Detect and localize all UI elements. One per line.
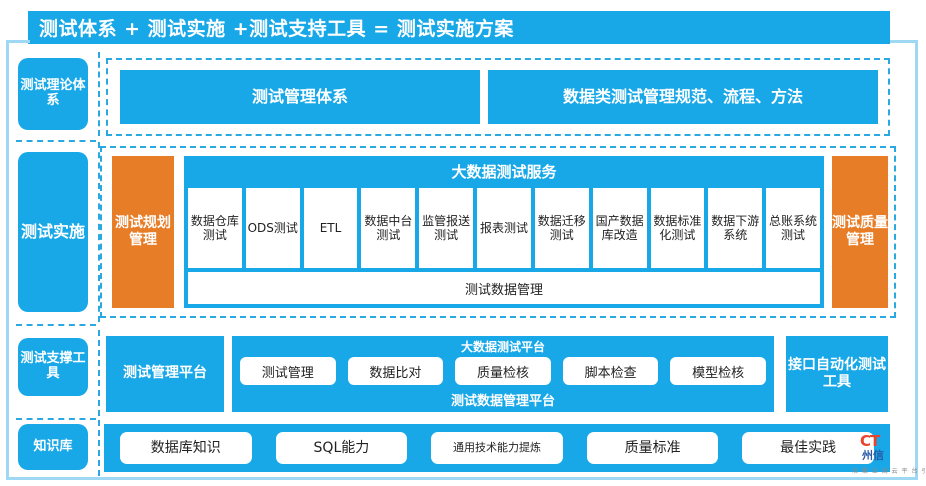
service-cell[interactable]: 监管报送测试: [419, 188, 473, 268]
big-data-test-service-panel: 大数据测试服务 数据仓库测试 ODS测试 ETL 数据中台测试 监管报送测试 报…: [184, 156, 824, 308]
service-cell-label: 数据标准化测试: [651, 214, 705, 242]
sidebar-item-support-tools[interactable]: 测试支撑工具: [18, 338, 88, 396]
service-cell[interactable]: 数据标准化测试: [651, 188, 705, 268]
service-cell-label: 国产数据库改造: [593, 214, 647, 242]
test-quality-management-pillar[interactable]: 测试质量管理: [832, 156, 888, 308]
service-cell[interactable]: 报表测试: [477, 188, 531, 268]
knowledge-chip[interactable]: SQL能力: [276, 432, 408, 464]
knowledge-base-bar: 数据库知识 SQL能力 通用技术能力提炼 质量标准 最佳实践: [104, 424, 890, 472]
service-cell-label: ETL: [320, 221, 342, 235]
knowledge-chip[interactable]: 质量标准: [587, 432, 719, 464]
pillar-label: 测试质量管理: [832, 215, 888, 250]
service-cell[interactable]: 总账系统测试: [766, 188, 820, 268]
sidebar-divider-knowledge: [98, 420, 100, 476]
service-panel-footer[interactable]: 测试数据管理: [188, 272, 820, 304]
tools-box-label: 测试管理平台: [123, 365, 207, 383]
api-automation-tool-box[interactable]: 接口自动化测试工具: [786, 336, 888, 412]
test-planning-management-pillar[interactable]: 测试规划管理: [112, 156, 174, 308]
sidebar-item-label: 测试理论体系: [18, 79, 88, 109]
pillar-label: 测试规划管理: [112, 215, 174, 250]
test-management-platform-box[interactable]: 测试管理平台: [106, 336, 224, 412]
platform-chip[interactable]: 脚本检查: [563, 357, 659, 385]
service-cell-label: 总账系统测试: [766, 214, 820, 242]
sidebar-item-theory[interactable]: 测试理论体系: [18, 58, 88, 130]
theory-box-management-system[interactable]: 测试管理体系: [120, 70, 480, 124]
service-cell[interactable]: ETL: [304, 188, 358, 268]
frame-bottom-edge: [6, 477, 918, 480]
frame-top-left: [6, 40, 30, 43]
big-data-test-platform-panel: 大数据测试平台 测试管理 数据比对 质量检核 脚本检查 模型检核 测试数据管理平…: [232, 336, 774, 412]
service-cell[interactable]: 数据中台测试: [361, 188, 415, 268]
service-cell-label: 报表测试: [480, 221, 528, 235]
row-divider-upper: [16, 140, 96, 142]
frame-right-edge: [915, 40, 918, 480]
service-footer-label: 测试数据管理: [465, 279, 543, 298]
frame-left-edge: [6, 40, 9, 480]
platform-chip[interactable]: 质量检核: [455, 357, 551, 385]
service-cell-label: 数据中台测试: [361, 214, 415, 242]
theory-box-data-spec[interactable]: 数据类测试管理规范、流程、方法: [488, 70, 878, 124]
sidebar-item-label: 测试支撑工具: [18, 352, 88, 382]
service-cell[interactable]: 数据下游系统: [708, 188, 762, 268]
platform-chip-label: 脚本检查: [585, 362, 637, 381]
knowledge-chip-label: SQL能力: [314, 440, 370, 456]
knowledge-chip[interactable]: 通用技术能力提炼: [431, 432, 563, 464]
service-cell-label: 数据仓库测试: [188, 214, 242, 242]
service-cell[interactable]: 数据仓库测试: [188, 188, 242, 268]
tools-box-label: 接口自动化测试工具: [786, 357, 888, 392]
sidebar-divider-theory: [98, 52, 100, 136]
service-cell[interactable]: 数据迁移测试: [535, 188, 589, 268]
service-cell-label: 监管报送测试: [419, 214, 473, 242]
row-divider-lower: [16, 418, 96, 420]
sidebar-divider-tools: [98, 330, 100, 416]
row-divider-middle: [16, 324, 96, 326]
platform-chip[interactable]: 模型检核: [670, 357, 766, 385]
service-cell-label: ODS测试: [248, 221, 298, 235]
platform-chip-list: 测试管理 数据比对 质量检核 脚本检查 模型检核: [240, 356, 766, 386]
sidebar-item-label: 测试实施: [21, 223, 85, 241]
platform-chip-label: 测试管理: [262, 362, 314, 381]
service-cell-label: 数据下游系统: [708, 214, 762, 242]
slide-canvas: 测试体系 + 测试实施 +测试支持工具 = 测试实施方案 测试理论体系 测试实施…: [0, 0, 926, 486]
theory-box-label: 数据类测试管理规范、流程、方法: [563, 87, 803, 106]
platform-chip-label: 质量检核: [477, 362, 529, 381]
sidebar-item-implementation[interactable]: 测试实施: [18, 152, 88, 312]
platform-chip[interactable]: 测试管理: [240, 357, 336, 385]
slide-title-banner: 测试体系 + 测试实施 +测试支持工具 = 测试实施方案: [28, 11, 890, 44]
service-cell-list: 数据仓库测试 ODS测试 ETL 数据中台测试 监管报送测试 报表测试 数据迁移…: [188, 188, 820, 268]
service-panel-title: 大数据测试服务: [184, 156, 824, 186]
theory-box-label: 测试管理体系: [252, 87, 348, 106]
knowledge-chip[interactable]: 最佳实践: [742, 432, 874, 464]
knowledge-chip-label: 通用技术能力提炼: [453, 442, 541, 455]
knowledge-chip-label: 数据库知识: [151, 440, 221, 456]
service-cell[interactable]: 国产数据库改造: [593, 188, 647, 268]
page-title: 测试体系 + 测试实施 +测试支持工具 = 测试实施方案: [39, 14, 514, 41]
knowledge-chip-label: 质量标准: [625, 440, 681, 456]
platform-chip-label: 模型检核: [692, 362, 744, 381]
service-cell[interactable]: ODS测试: [246, 188, 300, 268]
platform-footer: 测试数据管理平台: [232, 390, 774, 409]
knowledge-chip[interactable]: 数据库知识: [120, 432, 252, 464]
platform-chip[interactable]: 数据比对: [348, 357, 444, 385]
platform-chip-label: 数据比对: [369, 362, 421, 381]
sidebar-item-label: 知识库: [33, 440, 72, 455]
service-cell-label: 数据迁移测试: [535, 214, 589, 242]
frame-top-right: [890, 40, 918, 43]
sidebar-item-knowledge-base[interactable]: 知识库: [18, 424, 88, 470]
knowledge-chip-label: 最佳实践: [780, 440, 836, 456]
platform-title: 大数据测试平台: [232, 338, 774, 355]
